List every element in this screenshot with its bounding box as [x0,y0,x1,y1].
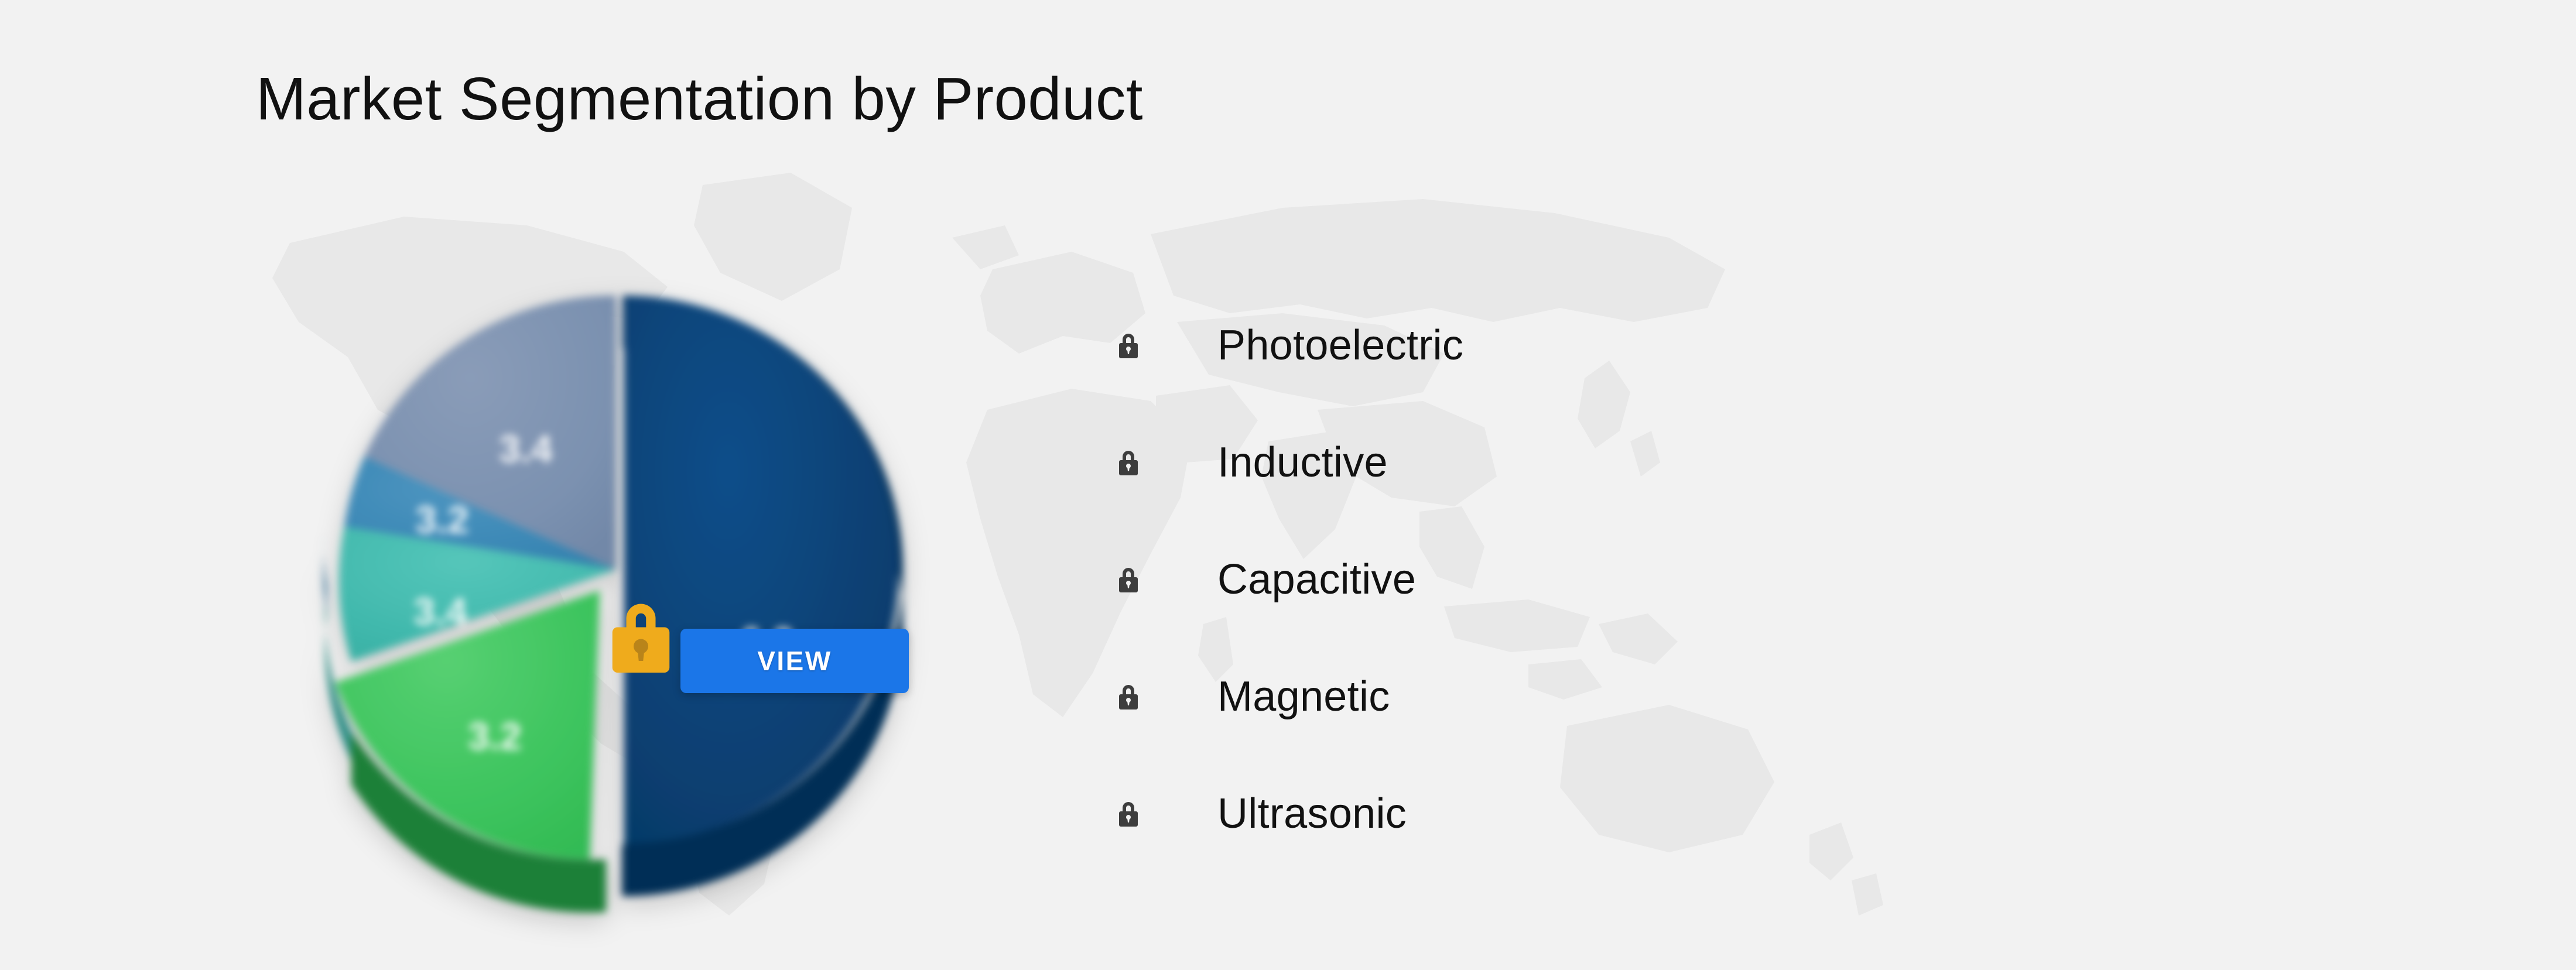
lock-icon [1116,448,1141,477]
slice-value-ultrasonic: 3.4 [499,427,553,470]
chart-page: Market Segmentation by Product [0,0,2576,970]
pie-chart: 6.2 3.4 3.2 3.4 3.2 VIEW [176,176,1054,937]
lock-icon [1116,331,1141,360]
lock-icon [1116,799,1141,828]
lock-icon [1116,565,1141,594]
page-title: Market Segmentation by Product [256,64,1143,133]
view-button-label: VIEW [757,645,832,677]
legend-item-capacitive[interactable]: Capacitive [1116,521,1760,638]
legend-item-label: Photoelectric [1217,321,1463,369]
legend-item-label: Ultrasonic [1217,790,1407,838]
legend-item-ultrasonic[interactable]: Ultrasonic [1116,755,1760,872]
pie-chart-graphic: 6.2 3.4 3.2 3.4 3.2 [176,176,1054,937]
legend-item-label: Inductive [1217,438,1388,486]
view-button[interactable]: VIEW [680,629,909,693]
legend-item-inductive[interactable]: Inductive [1116,404,1760,521]
legend-item-label: Magnetic [1217,673,1390,721]
lock-icon [1116,682,1141,711]
legend: Photoelectric Inductive [1116,287,1760,872]
slice-value-inductive: 3.2 [468,714,522,758]
slice-value-capacitive: 3.4 [413,589,467,633]
unlock-cta: VIEW [680,629,909,693]
legend-item-label: Capacitive [1217,556,1416,604]
slice-value-magnetic: 3.2 [415,498,469,541]
legend-item-magnetic[interactable]: Magnetic [1116,638,1760,755]
legend-item-photoelectric[interactable]: Photoelectric [1116,287,1760,404]
